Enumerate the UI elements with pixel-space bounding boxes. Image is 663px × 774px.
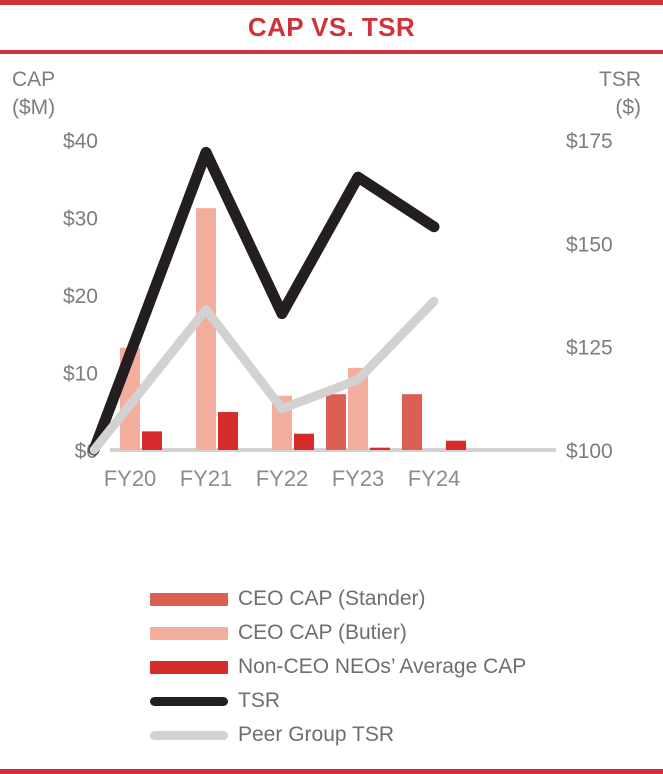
line-series (94, 152, 434, 450)
right-tick-label: $125 (566, 337, 613, 360)
title-band: CAP VS. TSR (0, 5, 663, 50)
right-tick-label: $150 (566, 233, 613, 256)
bar (370, 448, 390, 450)
legend-item-label: Peer Group TSR (238, 723, 394, 747)
legend-bar-swatch-icon (150, 627, 228, 640)
bottom-rule (0, 769, 663, 774)
right-axis-caption-line1: TSR (599, 66, 641, 94)
legend-item-label: Non-CEO NEOs’ Average CAP (238, 655, 526, 679)
line-series-group (94, 152, 434, 450)
right-tick-label: $175 (566, 132, 613, 153)
category-label: FY24 (408, 466, 461, 491)
legend-item-label: TSR (238, 689, 280, 713)
right-axis-caption-line2: ($) (599, 94, 641, 122)
right-axis-ticks: $100$125$150$175 (566, 132, 613, 463)
left-axis-caption: CAP ($M) (12, 66, 55, 123)
legend-item[interactable]: Non-CEO NEOs’ Average CAP (150, 650, 663, 684)
right-axis-caption: TSR ($) (599, 66, 641, 123)
bar (446, 441, 466, 450)
legend-item[interactable]: Peer Group TSR (150, 718, 663, 752)
category-label: FY20 (104, 466, 157, 491)
bar (196, 208, 216, 450)
legend-item[interactable]: CEO CAP (Stander) (150, 582, 663, 616)
legend-item-label: CEO CAP (Butier) (238, 621, 407, 645)
category-labels: FY20FY21FY22FY23FY24 (104, 466, 461, 491)
bar (218, 412, 238, 450)
chart-legend: CEO CAP (Stander)CEO CAP (Butier)Non-CEO… (0, 582, 663, 752)
category-label: FY23 (332, 466, 385, 491)
legend-item[interactable]: TSR (150, 684, 663, 718)
chart-canvas: $0$10$20$30$40 $100$125$150$175 FY20FY21… (0, 132, 663, 562)
page-title: CAP VS. TSR (248, 12, 415, 43)
left-tick-label: $40 (63, 132, 98, 153)
left-axis-caption-line1: CAP (12, 66, 55, 94)
category-label: FY22 (256, 466, 309, 491)
plot-area: $0$10$20$30$40 $100$125$150$175 FY20FY21… (0, 132, 663, 562)
legend-bar-swatch-icon (150, 661, 228, 674)
left-axis-caption-line2: ($M) (12, 94, 55, 122)
legend-bar-swatch-icon (150, 593, 228, 606)
bar (294, 434, 314, 450)
left-tick-label: $30 (63, 208, 98, 231)
legend-swatch-box (150, 697, 228, 706)
axis-caption-row: CAP ($M) TSR ($) (0, 54, 663, 132)
left-tick-label: $20 (63, 285, 98, 308)
category-label: FY21 (180, 466, 233, 491)
legend-item-label: CEO CAP (Stander) (238, 587, 426, 611)
bar (326, 394, 346, 450)
legend-swatch-box (150, 593, 228, 606)
legend-line-swatch-icon (150, 731, 228, 740)
legend-swatch-box (150, 661, 228, 674)
left-tick-label: $10 (63, 363, 98, 386)
legend-swatch-box (150, 627, 228, 640)
left-axis-ticks: $0$10$20$30$40 (63, 132, 98, 463)
legend-line-swatch-icon (150, 697, 228, 706)
legend-swatch-box (150, 731, 228, 740)
chart-figure: CAP VS. TSR CAP ($M) TSR ($) $0$10$20$30… (0, 0, 663, 774)
right-tick-label: $100 (566, 440, 613, 463)
bar (402, 394, 422, 450)
bar (142, 431, 162, 450)
legend-item[interactable]: CEO CAP (Butier) (150, 616, 663, 650)
